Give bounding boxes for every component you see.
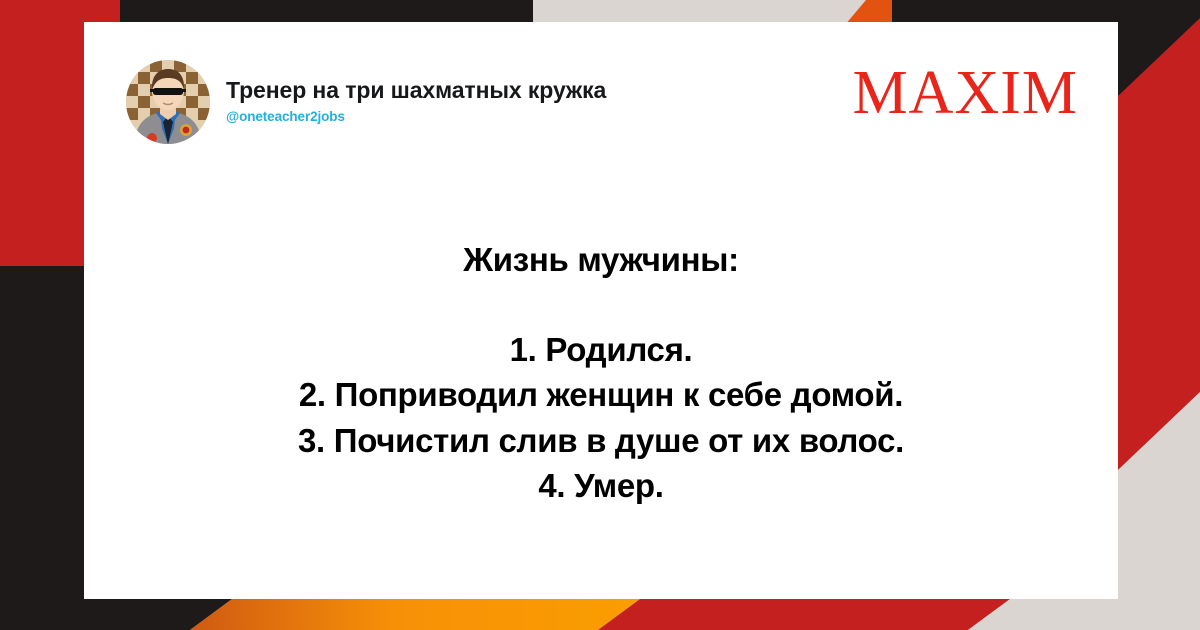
tweet-body: Жизнь мужчины: 1. Родился. 2. Поприводил… xyxy=(84,237,1118,509)
tweet-line-1: 1. Родился. xyxy=(84,327,1118,373)
left-black-band xyxy=(0,266,84,630)
tweet-line-4: 4. Умер. xyxy=(84,463,1118,509)
bottom-red-segment xyxy=(598,599,1010,630)
tweet-card: Тренер на три шахматных кружка @oneteach… xyxy=(84,22,1118,599)
meme-image: Тренер на три шахматных кружка @oneteach… xyxy=(0,0,1200,630)
maxim-logo: MAXIM xyxy=(853,58,1084,124)
account-block[interactable]: Тренер на три шахматных кружка @oneteach… xyxy=(126,58,606,144)
tweet-spacer xyxy=(84,283,1118,327)
avatar-illustration xyxy=(126,60,210,144)
avatar[interactable] xyxy=(126,60,210,144)
display-name: Тренер на три шахматных кружка xyxy=(226,78,606,103)
tweet-line-3: 3. Почистил слив в душе от их волос. xyxy=(84,418,1118,464)
tweet-line-2: 2. Поприводил женщин к себе домой. xyxy=(84,372,1118,418)
right-red-parallelogram xyxy=(1118,18,1200,470)
tweet-header: Тренер на три шахматных кружка @oneteach… xyxy=(126,58,1084,154)
tweet-heading: Жизнь мужчины: xyxy=(84,237,1118,283)
account-names: Тренер на три шахматных кружка @oneteach… xyxy=(226,60,606,125)
left-red-band xyxy=(0,0,84,266)
account-handle[interactable]: @oneteacher2jobs xyxy=(226,110,606,125)
bottom-orange-segment xyxy=(190,599,640,630)
